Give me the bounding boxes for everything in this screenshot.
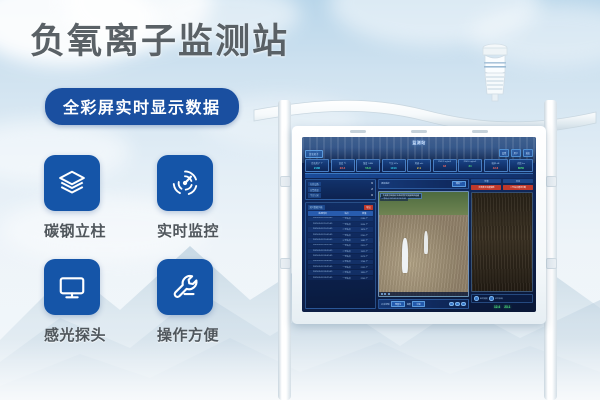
stat-value: 2 (371, 188, 372, 191)
table-row[interactable]: 2023-05-18 10:05:05一号站点2240 个 (308, 233, 374, 237)
post-bracket (280, 176, 291, 187)
table-row[interactable]: 2023-05-18 10:15:05一号站点2094 个 (308, 222, 374, 226)
table-cell: 1682 个 (355, 238, 373, 242)
vent-slot (350, 130, 366, 133)
table-cell: 一号站点 (338, 254, 356, 258)
table-cell: 2023-05-18 09:30:05 (308, 270, 338, 274)
stat-row: 今日记录8 (308, 193, 373, 198)
right-tab-0[interactable]: 告警 (471, 179, 501, 183)
video-channel-select[interactable]: 通道一 (452, 181, 466, 187)
kpi-card-8: 光照 lux8650 (509, 159, 533, 172)
play-icon[interactable] (381, 293, 383, 295)
topright-action-1[interactable]: 用户 (511, 149, 521, 157)
table-cell: 三号站点 (338, 260, 356, 264)
table-cell: 一号站点 (338, 265, 356, 269)
table-row[interactable]: 2023-05-18 09:45:05一号站点2078 个 (308, 254, 374, 258)
readout-value: 12.4 (494, 305, 500, 309)
video-figure (402, 238, 408, 274)
table-row[interactable]: 2023-05-18 09:25:05一号站点2203 个 (308, 276, 374, 280)
kpi-card-5: PM2.5 ug/m318 (433, 159, 457, 172)
stat-value: 6 (371, 182, 372, 185)
subtitle-badge: 全彩屏实时显示数据 (45, 88, 239, 125)
data-table: 实时数据列表 导出 监测时间 站点 数值 2023-05-18 10:20:05… (305, 202, 376, 309)
readout-value: 23.1 (504, 305, 510, 309)
table-tab[interactable]: 实时数据列表 (308, 205, 325, 210)
layers-icon (57, 168, 87, 198)
table-cell: 2023-05-18 09:50:05 (308, 249, 338, 253)
table-toolbar: 实时数据列表 导出 (308, 205, 374, 210)
secondary-camera-feed[interactable] (471, 192, 533, 292)
table-row[interactable]: 2023-05-18 10:20:05一号站点2186 个 (308, 217, 374, 221)
stat-label: 在线设备 (308, 182, 321, 187)
video-ground (379, 215, 468, 296)
cam-sub: 红外夜视 (495, 297, 503, 300)
video-overlay-subtitle: 一号站点 2023-05-18 10:20:05 (380, 197, 407, 201)
video-footer: 云台控制 预置位 速度 中速 (378, 299, 469, 309)
feature-label: 实时监控 (157, 220, 213, 241)
table-row[interactable]: 2023-05-18 09:35:05一号站点2155 个 (308, 265, 374, 269)
table-cell: 2023-05-18 10:00:05 (308, 238, 338, 242)
table-cell: 2078 个 (355, 254, 373, 258)
display-screen-frame: 监测站 负氧离子 设置 用户 退出 负氧离子 个2186温度 ℃23.4湿度 %… (292, 126, 546, 324)
kpi-card-0: 负氧离子 个2186 (305, 159, 329, 172)
kpi-value: 18 (434, 164, 456, 168)
table-row[interactable]: 2023-05-18 10:10:05二号站点1876 个 (308, 227, 374, 231)
table-row[interactable]: 2023-05-18 10:00:05三号站点1682 个 (308, 238, 374, 242)
kpi-card-7: 噪声 dB42.6 (484, 159, 508, 172)
video-figure (424, 231, 428, 254)
post-bracket (280, 258, 291, 269)
kpi-value: 2186 (306, 166, 328, 170)
display-icon (57, 272, 87, 302)
kpi-label: 负氧离子 个 (306, 161, 328, 165)
table-column-header: 监测时间 (308, 211, 338, 215)
monitoring-station: 监测站 负氧离子 设置 用户 退出 负氧离子 个2186温度 ℃23.4湿度 %… (250, 48, 600, 400)
table-row[interactable]: 2023-05-18 09:30:05二号站点1890 个 (308, 270, 374, 274)
ptz-dot-icon[interactable] (449, 302, 454, 307)
stat-row: 告警数量2 (308, 187, 373, 192)
kpi-label: 光照 lux (510, 161, 532, 165)
feature-item-0[interactable]: 碳钢立柱 (44, 155, 100, 241)
dashboard-logo: 负氧离子 (305, 150, 323, 158)
kpi-value: 23.4 (332, 166, 354, 170)
table-cell: 二号站点 (338, 227, 356, 231)
stat-box: 在线设备6告警数量2今日记录8 (305, 179, 376, 200)
table-cell: 2240 个 (355, 233, 373, 237)
feature-label: 操作方便 (157, 324, 213, 345)
table-cell: 2023-05-18 10:10:05 (308, 227, 338, 231)
stat-row: 在线设备6 (308, 182, 373, 187)
table-export-button[interactable]: 导出 (364, 205, 373, 210)
table-body: 2023-05-18 10:20:05一号站点2186 个2023-05-18 … (308, 217, 374, 281)
sensor-readouts: 12.4 23.1 (471, 305, 533, 310)
alert-item[interactable]: 二号站点通讯中断 (503, 185, 533, 189)
kpi-value: 2.1 (408, 166, 430, 170)
wrench-icon (170, 272, 200, 302)
kpi-value: 1013 (383, 166, 405, 170)
table-cell: 2023-05-18 10:20:05 (308, 217, 338, 221)
kpi-value: 42.6 (485, 166, 507, 170)
feature-item-2[interactable]: 感光探头 (44, 259, 100, 345)
post-bracket (546, 258, 557, 269)
table-row[interactable]: 2023-05-18 09:40:05三号站点1744 个 (308, 260, 374, 264)
right-tabs: 告警 日志 (471, 179, 533, 183)
table-cell: 2023-05-18 10:05:05 (308, 233, 338, 237)
table-cell: 2023-05-18 09:25:05 (308, 276, 338, 280)
dashboard: 监测站 负氧离子 设置 用户 退出 负氧离子 个2186温度 ℃23.4湿度 %… (302, 137, 536, 312)
right-tab-1[interactable]: 日志 (503, 179, 533, 183)
table-cell: 2155 个 (355, 265, 373, 269)
alert-item[interactable]: 负氧离子浓度偏低 (471, 185, 501, 189)
stat-value: 8 (371, 194, 372, 197)
stat-label: 告警数量 (308, 187, 321, 192)
table-cell: 2310 个 (355, 244, 373, 248)
feature-tile (157, 259, 213, 315)
table-cell: 1744 个 (355, 260, 373, 264)
kpi-label: 风速 m/s (408, 161, 430, 165)
table-row[interactable]: 2023-05-18 09:55:05一号站点2310 个 (308, 244, 374, 248)
table-cell: 2023-05-18 09:45:05 (308, 254, 338, 258)
kpi-card-6: PM10 ug/m334 (458, 159, 482, 172)
left-post (278, 100, 291, 400)
ptz-dot-icon[interactable] (461, 302, 466, 307)
table-row[interactable]: 2023-05-18 09:50:05二号站点1925 个 (308, 249, 374, 253)
table-cell: 2186 个 (355, 217, 373, 221)
table-cell: 2023-05-18 09:40:05 (308, 260, 338, 264)
speed-label: 速度 (407, 303, 411, 306)
kpi-label: 噪声 dB (485, 161, 507, 165)
dashboard-title: 监测站 (302, 140, 536, 146)
kpi-value: 56.8 (357, 166, 379, 170)
table-cell: 一号站点 (338, 222, 356, 226)
table-cell: 一号站点 (338, 233, 356, 237)
table-cell: 1890 个 (355, 270, 373, 274)
feature-grid: 碳钢立柱 (44, 155, 259, 363)
dashboard-left-column: 在线设备6告警数量2今日记录8 实时数据列表 导出 监测时间 站点 数值 (305, 179, 376, 309)
feature-tile (44, 155, 100, 211)
feature-label: 感光探头 (44, 324, 100, 345)
kpi-label: 温度 ℃ (332, 161, 354, 165)
kpi-label: 湿度 %RH (357, 161, 379, 165)
dashboard-topright-actions: 设置 用户 退出 (499, 149, 533, 157)
table-cell: 2023-05-18 09:55:05 (308, 244, 338, 248)
kpi-card-4: 风速 m/s2.1 (407, 159, 431, 172)
kpi-card-3: 气压 hPa1013 (382, 159, 406, 172)
feature-label: 碳钢立柱 (44, 220, 100, 241)
table-cell: 三号站点 (338, 238, 356, 242)
topright-action-2[interactable]: 退出 (523, 149, 533, 157)
table-cell: 2023-05-18 09:35:05 (308, 265, 338, 269)
video-controls[interactable] (379, 292, 468, 296)
post-bracket (546, 176, 557, 187)
kpi-card-1: 温度 ℃23.4 (331, 159, 355, 172)
feature-item-3[interactable]: 操作方便 (157, 259, 213, 345)
table-cell: 2094 个 (355, 222, 373, 226)
table-cell: 一号站点 (338, 244, 356, 248)
table-cell: 2203 个 (355, 276, 373, 280)
feature-tile (44, 259, 100, 315)
monitoring-icon (170, 168, 200, 198)
kpi-value: 8650 (510, 166, 532, 170)
fullscreen-icon[interactable] (388, 293, 390, 295)
nightvision-icon[interactable] (489, 296, 494, 301)
feature-tile (157, 155, 213, 211)
ptz-label: 云台控制 (381, 303, 389, 306)
stat-label: 今日记录 (308, 193, 321, 198)
kpi-row: 负氧离子 个2186温度 ℃23.4湿度 %RH56.8气压 hPa1013风速… (305, 159, 533, 172)
dashboard-video-column: 视频监控 通道一 负氧离子监测站 生态环境实时视频监控画面 一号站点 2023-… (378, 179, 469, 309)
promo-banner: 负氧离子监测站 全彩屏实时显示数据 碳钢立柱 (0, 0, 600, 400)
ptz-dot-icon[interactable] (455, 302, 460, 307)
alert-list: 负氧离子浓度偏低 二号站点通讯中断 (471, 185, 533, 189)
table-cell: 一号站点 (338, 217, 356, 221)
kpi-value: 34 (459, 164, 481, 168)
preset-select[interactable]: 预置位 (391, 301, 405, 307)
pause-icon[interactable] (384, 293, 386, 295)
table-cell: 二号站点 (338, 270, 356, 274)
dashboard-divider (305, 173, 533, 178)
kpi-card-2: 湿度 %RH56.8 (356, 159, 380, 172)
speed-select[interactable]: 中速 (412, 301, 424, 307)
video-toolbar-label: 视频监控 (381, 182, 389, 185)
table-cell: 一号站点 (338, 276, 356, 280)
table-column-header: 站点 (338, 211, 356, 215)
table-cell: 2023-05-18 10:15:05 (308, 222, 338, 226)
table-cell: 1925 个 (355, 249, 373, 253)
video-toolbar: 视频监控 通道一 (378, 179, 469, 189)
kpi-label: 气压 hPa (383, 161, 405, 165)
vent-slot (411, 130, 427, 133)
table-header-row: 监测时间 站点 数值 (308, 211, 374, 215)
topright-action-0[interactable]: 设置 (499, 149, 509, 157)
record-icon[interactable] (474, 296, 479, 301)
table-cell: 二号站点 (338, 249, 356, 253)
cam-label: 备用通道 (480, 297, 488, 300)
video-feed[interactable]: 负氧离子监测站 生态环境实时视频监控画面 一号站点 2023-05-18 10:… (378, 191, 469, 297)
feature-item-1[interactable]: 实时监控 (157, 155, 213, 241)
table-cell: 1876 个 (355, 227, 373, 231)
dashboard-right-column: 告警 日志 负氧离子浓度偏低 二号站点通讯中断 备用通道 红外夜视 (471, 179, 533, 309)
vent-slot (472, 130, 488, 133)
secondary-camera-footer: 备用通道 红外夜视 (471, 294, 533, 303)
table-column-header: 数值 (355, 211, 373, 215)
